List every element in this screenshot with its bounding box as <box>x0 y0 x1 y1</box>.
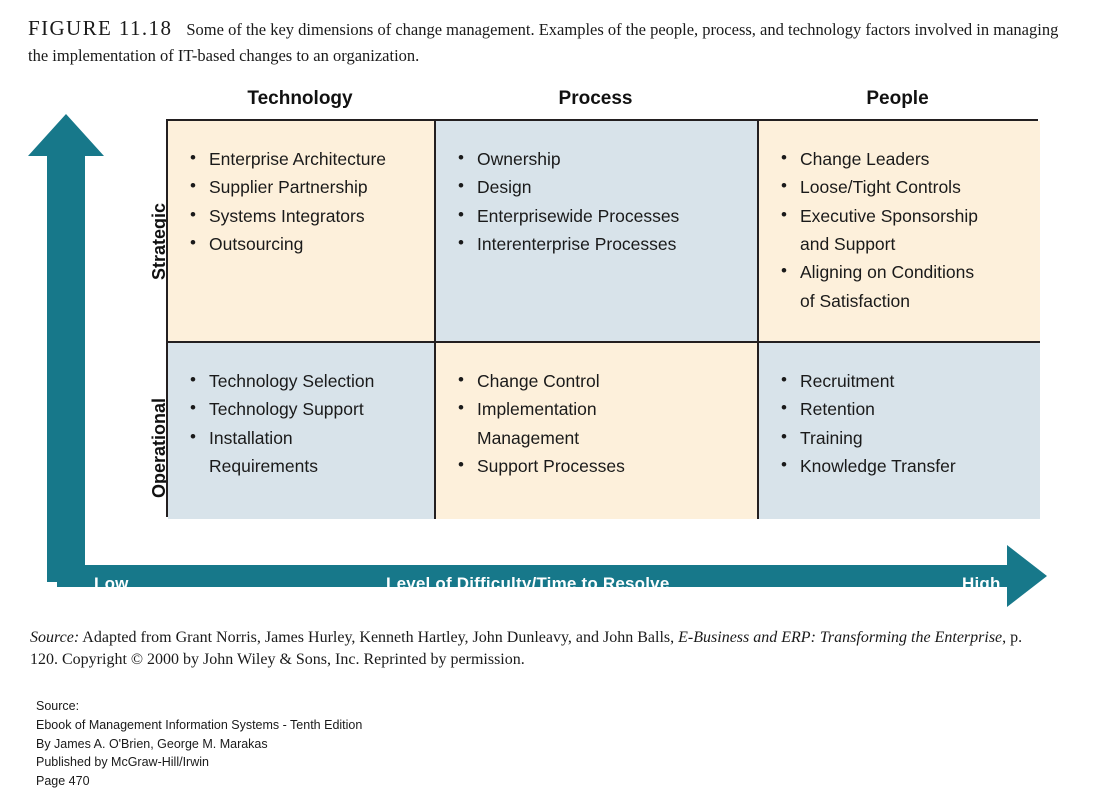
matrix-list-item: Interenterprise Processes <box>458 230 757 258</box>
matrix-cell-list: Enterprise ArchitectureSupplier Partners… <box>190 145 434 258</box>
vertical-axis-title: Impact on Business <box>0 266 19 430</box>
matrix-list-item: Loose/Tight Controls <box>781 173 1040 201</box>
matrix-list-item: Supplier Partnership <box>190 173 434 201</box>
horizontal-axis-low-label: Low <box>94 574 129 594</box>
horizontal-axis-high-label: High <box>962 574 1001 594</box>
figure-number: FIGURE 11.18 <box>28 16 186 40</box>
matrix-list-item: Outsourcing <box>190 230 434 258</box>
matrix-cell-operational-technology: Technology SelectionTechnology SupportIn… <box>168 343 436 519</box>
matrix-cell-list: Change ControlImplementationManagementSu… <box>458 367 757 480</box>
attribution-block: Source: Ebook of Management Information … <box>36 697 362 791</box>
matrix-cell-strategic-technology: Enterprise ArchitectureSupplier Partners… <box>168 121 436 343</box>
matrix-list-item: Knowledge Transfer <box>781 452 1040 480</box>
vertical-axis-arrow <box>28 112 104 582</box>
horizontal-axis-title: Level of Difficulty/Time to Resolve <box>386 574 669 594</box>
matrix-list-item: Ownership <box>458 145 757 173</box>
matrix-list-item: of Satisfaction <box>781 287 1040 315</box>
source-note-body-1: Adapted from Grant Norris, James Hurley,… <box>79 629 678 646</box>
figure-caption: FIGURE 11.18Some of the key dimensions o… <box>28 14 1068 67</box>
matrix-cell-operational-process: Change ControlImplementationManagementSu… <box>436 343 759 519</box>
vertical-axis-low-label: Low <box>0 537 19 572</box>
matrix-list-item: Implementation <box>458 395 757 423</box>
matrix-list-item: Recruitment <box>781 367 1040 395</box>
column-header-technology: Technology <box>166 88 434 110</box>
matrix-list-item: Systems Integrators <box>190 202 434 230</box>
matrix-cell-strategic-process: OwnershipDesignEnterprisewide ProcessesI… <box>436 121 759 343</box>
attribution-line-5: Page 470 <box>36 772 362 791</box>
vertical-arrow-shape <box>28 112 104 582</box>
matrix-cell-strategic-people: Change LeadersLoose/Tight ControlsExecut… <box>759 121 1040 343</box>
change-management-matrix: Enterprise ArchitectureSupplier Partners… <box>166 119 1038 517</box>
attribution-line-2: Ebook of Management Information Systems … <box>36 716 362 735</box>
attribution-line-1: Source: <box>36 697 362 716</box>
column-header-process: Process <box>434 88 757 110</box>
matrix-list-item: Change Leaders <box>781 145 1040 173</box>
matrix-cell-operational-people: RecruitmentRetentionTrainingKnowledge Tr… <box>759 343 1040 519</box>
source-note-prefix: Source: <box>30 629 79 646</box>
source-note: Source: Adapted from Grant Norris, James… <box>30 627 1040 672</box>
column-header-people: People <box>757 88 1038 110</box>
matrix-list-item: Technology Selection <box>190 367 434 395</box>
source-note-title: E-Business and ERP: Transforming the Ent… <box>678 629 1002 646</box>
matrix-list-item: Change Control <box>458 367 757 395</box>
vertical-axis-high-label: High <box>0 109 19 148</box>
matrix-list-item: Technology Support <box>190 395 434 423</box>
matrix-list-item: and Support <box>781 230 1040 258</box>
matrix-cell-list: Technology SelectionTechnology SupportIn… <box>190 367 434 480</box>
attribution-line-4: Published by McGraw-Hill/Irwin <box>36 753 362 772</box>
matrix-list-item: Enterprisewide Processes <box>458 202 757 230</box>
matrix-list-item: Training <box>781 424 1040 452</box>
matrix-list-item: Requirements <box>190 452 434 480</box>
matrix-list-item: Management <box>458 424 757 452</box>
matrix-list-item: Retention <box>781 395 1040 423</box>
matrix-list-item: Design <box>458 173 757 201</box>
matrix-list-item: Enterprise Architecture <box>190 145 434 173</box>
matrix-list-item: Installation <box>190 424 434 452</box>
attribution-line-3: By James A. O'Brien, George M. Marakas <box>36 735 362 754</box>
matrix-cell-list: Change LeadersLoose/Tight ControlsExecut… <box>781 145 1040 315</box>
matrix-cell-list: OwnershipDesignEnterprisewide ProcessesI… <box>458 145 757 258</box>
matrix-list-item: Executive Sponsorship <box>781 202 1040 230</box>
matrix-cell-list: RecruitmentRetentionTrainingKnowledge Tr… <box>781 367 1040 480</box>
matrix-list-item: Support Processes <box>458 452 757 480</box>
matrix-list-item: Aligning on Conditions <box>781 258 1040 286</box>
